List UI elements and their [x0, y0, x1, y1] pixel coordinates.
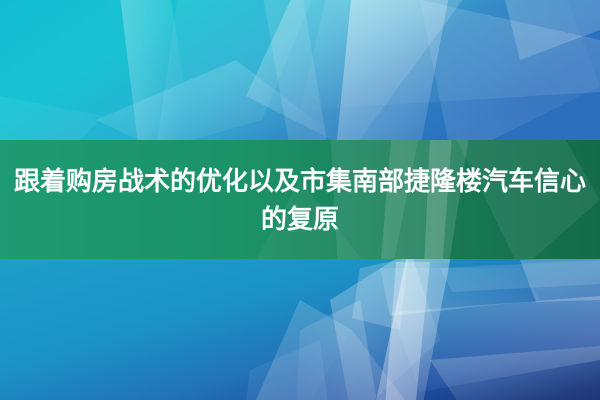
banner-image: 跟着购房战术的优化以及市集南部捷隆楼汽车信心 的复原: [0, 0, 600, 400]
headline-text-block: 跟着购房战术的优化以及市集南部捷隆楼汽车信心 的复原: [0, 140, 600, 259]
headline-line-2: 的复原: [261, 200, 339, 238]
headline-line-1: 跟着购房战术的优化以及市集南部捷隆楼汽车信心: [14, 162, 586, 200]
